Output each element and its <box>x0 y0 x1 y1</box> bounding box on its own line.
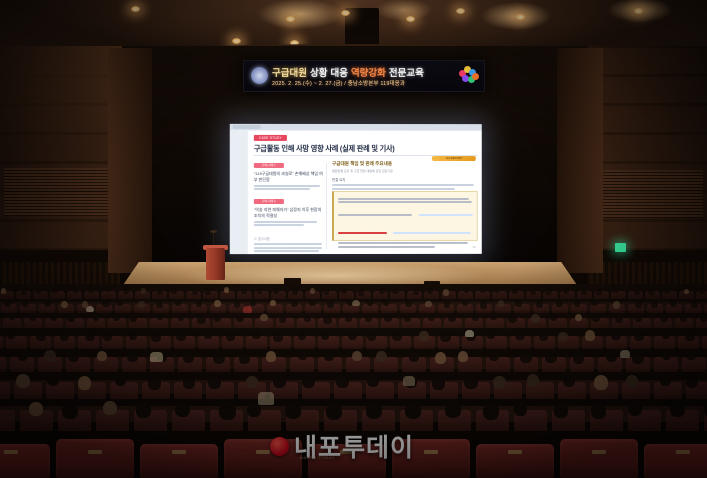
seat-back <box>101 291 116 299</box>
audience-member <box>686 350 695 360</box>
slide-left-panel: 판례 사례 1 "119구급대원의 과실로" 손해배상 책임 여부 판단함 판례… <box>254 163 327 249</box>
audience-member <box>596 289 602 295</box>
audience-member <box>686 376 698 388</box>
theater-seat <box>644 444 707 478</box>
proscenium-right <box>557 48 603 273</box>
audience-member <box>550 314 557 321</box>
audience-member <box>44 299 51 306</box>
audience-member <box>252 331 260 340</box>
audience-member <box>86 306 94 312</box>
audience-member <box>62 402 78 419</box>
audience-member <box>36 288 41 294</box>
audience-member <box>236 314 243 322</box>
projection-screen: CASE STUDY 구급활동 인해 사망 영향 사례 (실제 판례 및 기사)… <box>230 124 482 254</box>
audience-member <box>626 375 638 387</box>
audience-member <box>635 300 642 307</box>
banner-title-part: 구급대원 <box>272 65 307 79</box>
case-badge: 판례 사례 1 <box>254 163 284 168</box>
audience-member <box>273 375 286 389</box>
audience-member <box>309 300 315 307</box>
section-label: 판결 요지 <box>332 177 478 182</box>
audience-member <box>157 313 164 320</box>
audience-member <box>7 330 15 338</box>
seat-number-tag <box>88 450 102 454</box>
audience-member <box>358 289 365 296</box>
audience-member <box>327 301 334 308</box>
audience-member <box>660 314 667 322</box>
slide-page-number: 12 <box>472 245 475 249</box>
audience-member <box>352 351 362 361</box>
right-panel-title: 구급대원 책임 및 판례 주요내용 <box>332 161 478 167</box>
audience-member <box>68 350 79 362</box>
audience-member <box>47 374 59 386</box>
audience-member <box>699 288 705 294</box>
audience-member <box>367 332 376 341</box>
audience-member <box>591 403 607 420</box>
audience-member <box>298 350 308 360</box>
ceiling-spotlight <box>456 8 465 14</box>
seat-back <box>0 382 10 399</box>
audience-member <box>205 289 211 295</box>
audience-member <box>613 301 620 309</box>
podium <box>206 248 225 280</box>
audience-member <box>379 287 385 294</box>
audience-member <box>700 314 707 322</box>
audience-member <box>241 288 247 294</box>
audience-member <box>615 315 623 323</box>
audience-member <box>36 331 46 341</box>
audience-member <box>498 300 504 307</box>
audience-member <box>239 352 250 364</box>
audience-member <box>16 374 30 388</box>
audience-member <box>662 331 670 340</box>
audience-member <box>539 331 548 341</box>
audience-member <box>352 300 360 306</box>
audience-member <box>634 289 640 295</box>
audience-member <box>512 288 518 294</box>
audience-member <box>487 330 495 338</box>
audience-member <box>67 314 74 322</box>
audience-member <box>243 306 252 313</box>
audience-member <box>585 330 595 341</box>
audience-member <box>61 301 68 308</box>
audience-member <box>428 314 435 321</box>
watermark-subtext: NAEPO TODAY <box>300 455 335 460</box>
quote-box <box>332 191 478 241</box>
banner-title-part: 대응 <box>330 65 347 79</box>
seat-number-tag <box>4 450 18 454</box>
slide-badge: CASE STUDY <box>254 135 287 141</box>
audience-member <box>113 313 121 321</box>
audience-member <box>563 288 569 294</box>
audience-member <box>366 402 382 419</box>
screen-app-tab <box>233 125 261 129</box>
audience-member <box>323 315 331 324</box>
audience-member <box>310 288 315 293</box>
slide-title: 구급활동 인해 사망 영향 사례 (실제 판례 및 기사) <box>254 144 395 154</box>
audience-member <box>545 351 556 363</box>
ceiling-spotlight <box>286 16 295 22</box>
audience-member <box>558 332 567 342</box>
audience-member <box>103 332 112 341</box>
audience-member <box>302 374 315 388</box>
audience-member <box>432 375 446 390</box>
audience-member <box>545 288 551 295</box>
audience-member <box>1 288 6 294</box>
audience-member <box>175 402 189 417</box>
audience-member <box>273 332 283 342</box>
audience-member <box>85 330 95 341</box>
audience-member <box>670 401 685 417</box>
audience-member <box>425 301 431 307</box>
audience-member <box>208 376 221 389</box>
audience-member <box>73 287 78 293</box>
audience-member <box>4 299 11 307</box>
audience-member <box>127 351 138 362</box>
audience-member <box>117 300 123 306</box>
audience-member <box>324 289 330 295</box>
audience-member <box>78 376 91 390</box>
audience-member <box>427 287 433 294</box>
audience-member <box>392 287 398 294</box>
audience-member <box>250 300 256 306</box>
highlight-blue <box>419 214 473 216</box>
audience-member <box>129 331 137 340</box>
audience-member <box>651 300 658 307</box>
audience-member <box>556 301 563 308</box>
fire-service-emblem-icon <box>251 67 268 84</box>
audience-member <box>324 351 334 361</box>
audience-member <box>367 374 379 386</box>
seat-number-tag <box>424 450 438 454</box>
ceiling-spotlight <box>634 8 643 14</box>
audience-member <box>367 299 374 306</box>
banner-title-part: 전문교육 <box>389 65 424 79</box>
slide-right-panel: 구급대원 책임 및 판례 주요내용 법원판결 요지 및 구급 현장 대응에 관한… <box>332 161 478 249</box>
case-heading: "이송 지연 피해자가" 심정지 이후 현장의 조치의 적절성 <box>254 207 326 219</box>
audience-member <box>44 350 55 362</box>
audience-member <box>435 352 447 364</box>
audience-member <box>21 289 27 295</box>
audience-member <box>219 402 236 419</box>
proscenium-left <box>108 48 152 273</box>
ceiling-spotlight <box>232 38 241 44</box>
audience-member <box>594 375 608 390</box>
audience-member <box>29 402 42 416</box>
audience-member <box>183 376 196 389</box>
audience-member <box>508 314 516 323</box>
photograph-auditorium-lecture: 구급대원 상황 대응 역량강화 전문교육 2025. 2. 25.(수) ~ 2… <box>0 0 707 478</box>
seat-number-tag <box>592 450 606 454</box>
audience-member <box>493 376 505 389</box>
audience-member <box>285 402 302 420</box>
audience-member <box>480 301 487 309</box>
footnote-label: ※ 참고사항 <box>254 236 326 241</box>
audience-member <box>520 350 532 363</box>
theater-seat <box>56 439 134 478</box>
seat-number-tag <box>256 450 270 454</box>
audience-member <box>648 288 654 295</box>
audience-member <box>103 401 116 415</box>
audience-member <box>445 401 462 418</box>
audience-member <box>448 314 456 322</box>
audience-member <box>246 376 257 388</box>
audience-member <box>670 300 677 307</box>
audience-member <box>527 374 539 386</box>
audience-member <box>458 351 468 362</box>
audience-member <box>224 287 230 293</box>
audience-member <box>480 287 486 293</box>
audience-member <box>465 330 474 337</box>
audience-member <box>464 374 478 388</box>
right-panel-subtitle: 법원판결 요지 및 구급 현장 대응에 관한 판단기준 <box>332 169 478 173</box>
ceiling-spotlight <box>406 16 415 22</box>
audience-member <box>178 314 185 321</box>
seat-back <box>702 336 707 349</box>
audience-member <box>494 287 500 293</box>
audience-member <box>336 375 349 389</box>
audience-member <box>157 289 163 295</box>
audience-member <box>304 315 311 322</box>
audience-member <box>138 301 145 308</box>
flower-graphic-icon <box>459 66 479 85</box>
audience-member <box>102 299 109 307</box>
audience-member <box>345 314 352 322</box>
case-badge-label: 판례 사례 1 <box>254 163 284 168</box>
audience-member <box>440 331 450 342</box>
audience-member <box>130 315 137 322</box>
audience-member <box>29 314 36 321</box>
audience-member <box>196 300 202 307</box>
audience-member <box>260 314 267 322</box>
audience-member <box>151 332 160 342</box>
case-badge-label: 판례 사례 2 <box>254 199 284 204</box>
seat-back <box>0 357 6 372</box>
highlight-red <box>338 232 387 234</box>
audience-member <box>660 374 671 386</box>
audience-member <box>405 402 421 419</box>
banner-subtitle: 2025. 2. 25.(수) ~ 2. 27.(금) / 충남소방본부 119… <box>272 79 457 87</box>
audience-member <box>628 401 642 416</box>
banner-title-part: 상황 <box>310 65 327 79</box>
audience-member <box>22 301 28 307</box>
screen-header-bar <box>230 124 482 130</box>
audience-member <box>214 315 221 322</box>
audience-member <box>183 351 194 363</box>
audience-member <box>257 288 262 293</box>
slide-badge-label: CASE STUDY <box>254 135 287 141</box>
audience-member <box>266 351 276 361</box>
audience-member <box>620 350 630 358</box>
audience-member <box>472 314 479 321</box>
audience-member <box>613 287 619 293</box>
audience-member <box>419 331 428 341</box>
seat-number-tag <box>676 450 690 454</box>
audience-member <box>606 350 617 362</box>
audience-member <box>258 392 274 405</box>
audience-member <box>136 402 151 418</box>
audience-member <box>413 289 419 295</box>
audience-member <box>483 403 499 420</box>
audience-member <box>563 375 575 387</box>
audience-member <box>291 300 298 307</box>
audience-member <box>392 332 401 342</box>
audience-member <box>292 288 298 295</box>
audience-member <box>204 331 212 339</box>
audience-member <box>464 287 469 292</box>
audience-member <box>573 352 584 364</box>
audience-member <box>175 299 181 305</box>
audience-member <box>403 376 415 386</box>
case-heading: "119구급대원의 과실로" 손해배상 책임 여부 판단함 <box>254 171 326 183</box>
banner-title: 구급대원 상황 대응 역량강화 전문교육 <box>272 64 450 79</box>
ceiling-spotlight <box>131 6 140 12</box>
audience-member <box>632 352 644 364</box>
case-badge: 판례 사례 2 <box>254 199 284 204</box>
audience-member <box>192 288 198 295</box>
audience-member <box>515 299 522 306</box>
audience-member <box>575 314 582 321</box>
audience-member <box>530 288 536 294</box>
audience-member <box>634 331 644 341</box>
audience-member <box>148 376 161 390</box>
ceiling-spotlight <box>516 14 525 20</box>
seat-number-tag <box>172 450 186 454</box>
seat-number-tag <box>508 450 522 454</box>
ceiling-spotlight <box>341 10 350 16</box>
audience-member <box>150 352 163 362</box>
audience-member <box>444 301 451 308</box>
audience-member <box>60 331 69 341</box>
audience-member <box>176 331 185 341</box>
audience-member <box>574 301 580 307</box>
audience-member <box>514 401 528 415</box>
audience-member <box>635 315 642 322</box>
watermark: 내포투데이 <box>270 428 414 464</box>
exit-sign-right <box>615 243 626 252</box>
audience-member <box>489 350 499 360</box>
audience-member <box>348 331 357 340</box>
audience-member <box>383 299 389 306</box>
audience-member <box>592 314 600 322</box>
audience-member <box>376 351 386 362</box>
audience-member <box>171 288 177 294</box>
audience-member <box>279 315 287 323</box>
audience-member <box>115 374 126 386</box>
audience-member <box>18 350 28 361</box>
audience-member <box>234 301 240 308</box>
watermark-logo-icon <box>270 437 289 456</box>
audience-member <box>197 315 205 324</box>
audience-member <box>536 301 543 309</box>
banner-title-part: 역량강화 <box>351 65 386 79</box>
theater-seat <box>560 439 638 478</box>
audience-member <box>97 351 107 361</box>
audience-member <box>443 289 449 296</box>
audience-member <box>611 330 621 340</box>
audience-member <box>531 314 539 323</box>
audience-member <box>326 403 343 420</box>
audience-member <box>554 403 568 418</box>
audience-member <box>226 331 236 341</box>
audience-member <box>409 351 419 362</box>
audience-member <box>515 330 525 340</box>
audience-member <box>384 314 392 322</box>
seat-back <box>0 336 3 349</box>
audience-member <box>685 330 695 341</box>
microphone-icon <box>210 230 217 233</box>
audience-member <box>213 352 225 364</box>
audience-member <box>490 314 497 321</box>
seat-back <box>0 410 15 431</box>
audience-member <box>341 288 347 294</box>
audience-member <box>591 299 598 306</box>
event-banner: 구급대원 상황 대응 역량강화 전문교육 2025. 2. 25.(수) ~ 2… <box>243 60 485 92</box>
audience-member <box>214 300 221 307</box>
audience-member <box>9 313 16 320</box>
audience-member <box>141 288 146 294</box>
presentation-slide: CASE STUDY 구급활동 인해 사망 영향 사례 (실제 판례 및 기사)… <box>248 131 482 254</box>
audience-member <box>50 314 57 321</box>
audience-member <box>52 288 57 294</box>
